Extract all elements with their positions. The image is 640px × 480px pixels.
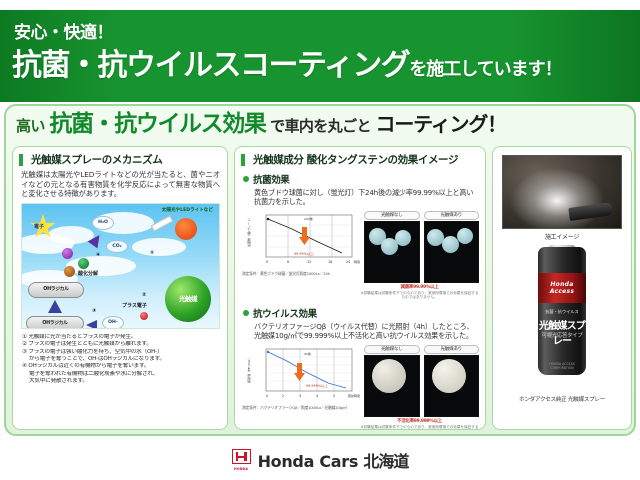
dish-shape [427, 229, 444, 246]
spray-photo-caption: 施工イメージ [493, 232, 631, 241]
antibacterial-plot: 生菌数（個/プレート） 99.99%以上 24h後 0 6 12 18 24 時… [242, 211, 360, 269]
mechanism-diagram: 電子 太陽光やLEDライトなど H₂O CO₂ ④ ① ② ③ 酸化分解 OHラ… [21, 203, 220, 329]
dish-shape [457, 228, 473, 244]
bottle-footer: HONDA ACCESS CORPORATION [538, 362, 586, 370]
footer-region: 北海道 [363, 452, 408, 471]
cloud-shape [66, 256, 136, 276]
product-bottle: Honda Access 抗菌・抗ウイルス 光触媒スプレー 可視光応答タイプ H… [502, 245, 622, 393]
spray-nozzle-icon [568, 202, 613, 221]
chart-annotation: 99.999%以上 [306, 383, 328, 388]
evidence-row-antibacterial: 生菌数（個/プレート） 99.99%以上 24h後 0 6 12 18 24 時… [242, 211, 479, 283]
x-tick: 24 [346, 260, 350, 264]
y-axis-label: 生菌数（個/プレート） [246, 216, 251, 247]
promo-page: 安心・快適！ 抗菌・抗ウイルスコーティングを施工しています！ 高い 抗菌・抗ウイ… [0, 0, 640, 480]
evidence-row-antiviral: 感染価（PFU/mL） 99.999%以上 4h後 0 2 3 4 5 照射時間… [242, 345, 479, 417]
photo-treated [424, 221, 480, 283]
section-body-antibacterial: 黄色ブドウ球菌に対し（蛍光灯）下24h後の減少率99.99%以上と高い抗菌力を示… [254, 188, 477, 207]
mechanism-notes: ① 光触媒に光が当たるとプラスの電子が発生。 ② プラスの電子は発生とともに光触… [22, 334, 219, 386]
photo-caption-treated: 光触媒あり [424, 211, 480, 220]
chart-annotation: 99.99%以上 [294, 251, 314, 256]
antibacterial-chart-note: 測定条件：黄色ブドウ球菌／蛍光灯照度1000Lx／24h [242, 271, 360, 276]
bottle-type: 可視光応答タイプ [538, 331, 586, 339]
section-heading-label: 抗菌効果 [253, 172, 289, 186]
bottle-subtitle: 抗菌・抗ウイルス [538, 309, 586, 315]
sun-lamp-icon [175, 218, 197, 240]
honda-logo-icon: HONDA [232, 449, 251, 471]
section-heading-antibacterial: 抗菌効果 [243, 172, 485, 186]
x-tick: 0 [266, 394, 268, 398]
tagline-prefix: 高い [16, 117, 45, 135]
antiviral-chart: 感染価（PFU/mL） 99.999%以上 4h後 0 2 3 4 5 照射時間… [242, 345, 360, 417]
photo-col-control-2: 光触媒なし [364, 345, 420, 417]
x-tick: 5 [333, 394, 335, 398]
x-axis-label: 時間(h) [354, 259, 360, 264]
mechanism-body: 光触媒は太陽光やLEDライトなどの光が当たると、菌やニオイなどの元となる有害物質… [21, 170, 220, 199]
note-line: ② プラスの電子は発生とともに光触媒から離れます。 [22, 341, 219, 348]
step-marker-2: ② [142, 292, 146, 298]
dish-shape [442, 236, 459, 253]
tagline: 高い 抗菌・抗ウイルス効果 で車内を丸ごと コーティング！ [0, 109, 640, 139]
dish-shape [395, 230, 411, 246]
page-footer: HONDA Honda Cars 北海道 [0, 440, 640, 480]
product-panel: 施工イメージ Honda Access 抗菌・抗ウイルス 光触媒スプレー 可視光… [492, 146, 632, 430]
chart-annotation-top: 24h後 [304, 216, 313, 221]
note-line: ① 光触媒に光が当たるとプラスの電子が発生。 [22, 334, 219, 341]
up-arrow-icon [48, 300, 62, 313]
tagline-middle: で車内を丸ごと [270, 117, 371, 135]
oh-radical-chip: OHラジカル [28, 282, 84, 298]
spray-application-photo [502, 155, 622, 229]
plus-electron-label: プラス電子 [122, 302, 147, 309]
logo-h-bar [236, 456, 247, 458]
x-tick: 18 [328, 260, 332, 264]
x-tick: 6 [287, 260, 289, 264]
footer-brand-name: Honda Cars [258, 452, 359, 471]
header-title-suffix: を施工しています！ [409, 59, 561, 80]
dish-shape [372, 359, 406, 393]
photo-col-treated: 光触媒あり [424, 211, 480, 283]
x-tick: 4 [316, 394, 318, 398]
antiviral-chart-note: 測定条件：バクテリオファージQβ／照度1000Lx／光触媒10g/㎡ [242, 405, 360, 410]
antibacterial-photos: 光触媒なし 光触媒あり [364, 211, 479, 283]
chart-annotation-top: 4h後 [304, 351, 311, 356]
tagline-highlight: 抗菌・抗ウイルス効果 [49, 111, 265, 137]
x-tick: 0 [266, 260, 268, 264]
antiviral-plot: 感染価（PFU/mL） 99.999%以上 4h後 0 2 3 4 5 照射時間… [242, 345, 360, 403]
photocatalyst-sphere: 光触媒 [165, 276, 211, 322]
photo-treated-2 [424, 355, 480, 417]
co2-bubble: CO₂ [106, 240, 128, 253]
footer-brand: Honda Cars 北海道 [258, 448, 409, 472]
photo-caption-control-2: 光触媒なし [364, 345, 420, 354]
antiviral-photo-note: ※試験結果は試験条件下でのものであり、実使用環境での効果を保証するものではありま… [360, 425, 479, 430]
x-axis-label: 照射時間(h) [348, 393, 360, 398]
section-body-antiviral: バクテリオファージQβ（ウイルス代替）に光照射（4h）したところ、光触媒10g/… [254, 322, 477, 341]
electron-dot [140, 312, 148, 320]
note-line: ③ プラスの電子は強い酸化力を持ち、空気中の水（OH-） [22, 349, 219, 356]
antibacterial-chart: 生菌数（個/プレート） 99.99%以上 24h後 0 6 12 18 24 時… [242, 211, 360, 283]
oxidation-label: 酸化分解 [78, 270, 98, 277]
oh-radical-chip-2: OHラジカル [26, 316, 84, 329]
y-axis-label: 感染価（PFU/mL） [246, 356, 251, 382]
section-heading-antiviral: 抗ウイルス効果 [243, 306, 485, 320]
dish-shape [432, 359, 466, 393]
bottle-brand: Honda Access [538, 281, 586, 295]
photo-caption-control: 光触媒なし [364, 211, 420, 220]
molecule-dot [62, 248, 73, 259]
bullet-dot-icon [243, 176, 249, 182]
molecule-dot [78, 258, 89, 269]
section-heading-label: 抗ウイルス効果 [253, 306, 317, 320]
bullet-dot-icon [243, 310, 249, 316]
step-marker-3: ③ [92, 308, 96, 314]
note-line: ④ OHラジカルは近くの有機物から電子を奪います。 [22, 363, 219, 370]
effect-title: 光触媒成分 酸化タングステンの効果イメージ [241, 154, 479, 166]
molecule-dot [64, 266, 75, 277]
light-source-label: 太陽光やLEDライトなど [162, 207, 213, 213]
page-header: 安心・快適！ 抗菌・抗ウイルスコーティングを施工しています！ [0, 10, 640, 102]
header-title: 抗菌・抗ウイルスコーティングを施工しています！ [12, 40, 562, 84]
cloud-shape [132, 238, 186, 256]
photo-col-treated-2: 光触媒あり [424, 345, 480, 417]
oh-minus-bubble: OH- [102, 316, 124, 329]
led-tube-icon [151, 215, 174, 232]
antiviral-photos: 光触媒なし 光触媒あり [364, 345, 479, 417]
effect-panel: 光触媒成分 酸化タングステンの効果イメージ 抗菌効果 黄色ブドウ球菌に対し（蛍光… [234, 146, 486, 430]
bottle-body: Honda Access 抗菌・抗ウイルス 光触媒スプレー 可視光応答タイプ H… [538, 247, 586, 375]
x-tick: 3 [299, 394, 301, 398]
left-arrow-icon [86, 320, 97, 329]
antibacterial-result: 減菌率99.99%以上 [360, 284, 479, 290]
x-tick: 2 [282, 394, 284, 398]
step-marker-1: ① [150, 250, 154, 256]
mechanism-panel: 光触媒スプレーのメカニズム 光触媒は太陽光やLEDライトなどの光が当たると、菌や… [12, 146, 228, 430]
photo-caption-treated-2: 光触媒あり [424, 345, 480, 354]
x-tick: 12 [307, 260, 311, 264]
photo-col-control: 光触媒なし [364, 211, 420, 283]
electron-label: 電子 [34, 223, 44, 230]
photo-control [364, 221, 420, 283]
note-line: 電子を奪われた有機物は二酸化炭素や水に分解され、 [22, 371, 219, 378]
step-marker-4: ④ [96, 252, 100, 258]
product-caption: ホンダアクセス純正 光触媒スプレー [493, 395, 631, 403]
antiviral-result: 不活化率99.999%以上 [360, 418, 479, 424]
mechanism-title: 光触媒スプレーのメカニズム [19, 154, 221, 166]
tagline-suffix: コーティング！ [376, 112, 506, 136]
photo-control-2 [364, 355, 420, 417]
header-title-main: 抗菌・抗ウイルスコーティング [12, 48, 409, 83]
antibacterial-photo-note: ※試験結果は試験条件下でのものであり、実使用環境での効果を保証するものではありま… [360, 291, 479, 300]
note-line: 大気中に発散されます。 [22, 378, 219, 385]
logo-wordmark: HONDA [232, 467, 251, 471]
note-line: から電子を奪うことで、OH-はOHラジカルになります。 [22, 356, 219, 363]
h2o-bubble: H₂O [92, 216, 114, 230]
